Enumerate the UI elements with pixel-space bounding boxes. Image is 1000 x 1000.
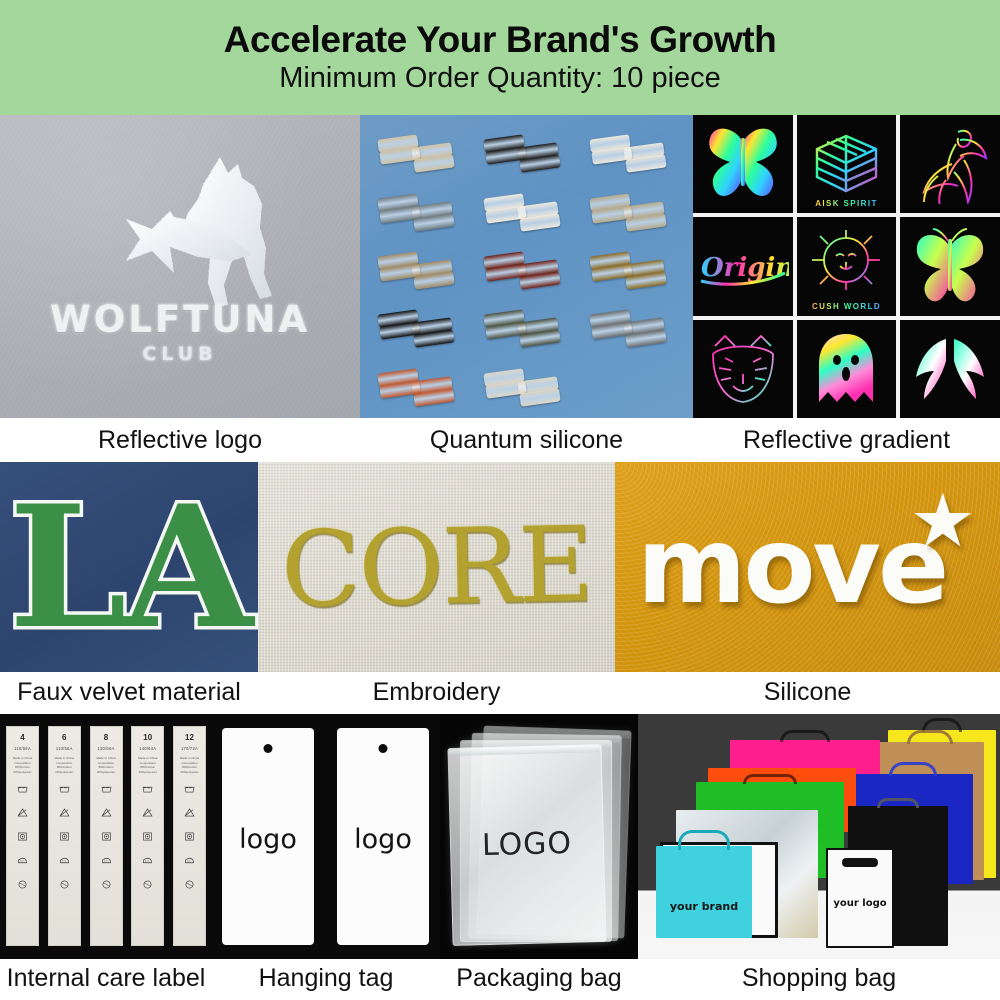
wash-tub-icon: [101, 780, 112, 798]
silicone-patch: [580, 296, 686, 354]
caption-band-row-1: Reflective logo Quantum silicone Reflect…: [0, 418, 1000, 462]
iron-icon: [101, 852, 112, 870]
chevron-icon: [378, 192, 464, 226]
care-symbol-group: [184, 780, 195, 894]
care-label-size-code: 130/60A: [97, 746, 114, 751]
silicone-patch-grid: [368, 121, 686, 413]
chevron-icon: [378, 367, 464, 401]
packaging-logo-text: LOGO: [451, 825, 604, 864]
hang-tag-logo-text: logo: [337, 824, 429, 855]
tile-rubiks-cube: AISK SPIRIT: [797, 115, 897, 213]
caption-faux-velvet: Faux velvet material: [0, 678, 258, 707]
shopping-bag-white-text: your logo: [828, 898, 892, 909]
tile-phoenix: [900, 115, 1000, 213]
care-symbol-group: [142, 780, 153, 894]
do-not-bleach-icon: [59, 804, 70, 822]
caption-band-row-2: Faux velvet material Embroidery Silicone: [0, 672, 1000, 714]
tile-original-script: Original: [693, 217, 793, 315]
caption-internal-care-label: Internal care label: [0, 964, 212, 993]
silicone-patch: [368, 179, 474, 237]
brand-name-primary: WOLFTUNA: [0, 298, 360, 341]
hang-tag-logo-text: logo: [222, 824, 314, 855]
care-label-size: 12: [185, 733, 194, 742]
care-label: 12170/72AMade in Chinacomposition80%Cott…: [173, 726, 206, 946]
care-symbol-group: [59, 780, 70, 894]
chevron-icon: [484, 367, 570, 401]
panel-quantum-silicone[interactable]: [360, 115, 693, 418]
page-title: Accelerate Your Brand's Growth: [224, 20, 777, 60]
care-symbol-group: [17, 780, 28, 894]
silicone-patch: [580, 179, 686, 237]
care-label-size: 6: [62, 733, 66, 742]
do-not-bleach-icon: [17, 804, 28, 822]
panel-reflective-gradient[interactable]: AISK SPIRIT: [693, 115, 1000, 418]
care-label-strip: 4110/56AMade in Chinacomposition80%Cotto…: [6, 726, 206, 946]
dry-clean-icon: [101, 876, 112, 894]
dry-clean-icon: [17, 876, 28, 894]
panel-hanging-tag[interactable]: logo logo: [212, 714, 440, 959]
caption-band-row-3: Internal care label Hanging tag Packagin…: [0, 959, 1000, 1000]
brand-name-secondary: CLUB: [0, 343, 360, 365]
chevron-icon: [590, 250, 676, 284]
silicone-patch: [368, 121, 474, 179]
punch-hole-icon: [379, 744, 388, 753]
silicone-patch: [474, 121, 580, 179]
silicone-patch: [580, 238, 686, 296]
panel-silicone[interactable]: move ★: [615, 462, 1000, 672]
care-symbol-group: [101, 780, 112, 894]
care-label: 4110/56AMade in Chinacomposition80%Cotto…: [6, 726, 39, 946]
hang-tag-1: logo: [222, 728, 314, 945]
do-not-bleach-icon: [101, 804, 112, 822]
iron-icon: [184, 852, 195, 870]
caption-packaging-bag: Packaging bag: [440, 964, 638, 993]
care-label: 10140/64AMade in Chinacomposition80%Cott…: [131, 726, 164, 946]
panel-reflective-logo[interactable]: WOLFTUNA CLUB: [0, 115, 360, 418]
iron-icon: [17, 852, 28, 870]
wash-tub-icon: [59, 780, 70, 798]
caption-embroidery: Embroidery: [258, 678, 615, 707]
care-label-size: 4: [20, 733, 24, 742]
shopping-bag-cyan: your brand: [656, 846, 752, 938]
panel-packaging-bag[interactable]: LOGO: [440, 714, 638, 959]
chevron-icon: [590, 133, 676, 167]
tile-angel-wings: [900, 320, 1000, 418]
tile-label-cush-world: CUSH WORLD: [797, 302, 897, 311]
shopping-bag-white: your logo: [826, 848, 894, 948]
star-icon: ★: [910, 484, 976, 558]
caption-shopping-bag: Shopping bag: [638, 964, 1000, 993]
care-label-body: Made in Chinacomposition80%Cotton20%poly…: [177, 756, 203, 774]
tile-butterfly: [693, 115, 793, 213]
dry-clean-icon: [59, 876, 70, 894]
silicone-patch: [368, 296, 474, 354]
care-label-body: Made in Chinacomposition80%Cotton20%poly…: [10, 756, 36, 774]
caption-reflective-gradient: Reflective gradient: [693, 426, 1000, 455]
minimum-order-quantity-text: Minimum Order Quantity: 10 piece: [279, 62, 721, 95]
panel-faux-velvet[interactable]: LA: [0, 462, 258, 672]
tumble-dry-icon: [59, 828, 70, 846]
caption-silicone: Silicone: [615, 678, 1000, 707]
chevron-icon: [378, 250, 464, 284]
tile-label-aisk-spirit: AISK SPIRIT: [797, 199, 897, 208]
tile-lion-head: CUSH WORLD: [797, 217, 897, 315]
tile-tiger-head: [693, 320, 793, 418]
dry-clean-icon: [184, 876, 195, 894]
iron-icon: [142, 852, 153, 870]
caption-quantum-silicone: Quantum silicone: [360, 426, 693, 455]
silicone-text: move: [637, 514, 946, 619]
caption-hanging-tag: Hanging tag: [212, 964, 440, 993]
embroidered-text: CORE: [258, 462, 615, 672]
chevron-icon: [484, 308, 570, 342]
panel-shopping-bag[interactable]: your brand your logo: [638, 714, 1000, 959]
tumble-dry-icon: [101, 828, 112, 846]
silicone-patch: [368, 238, 474, 296]
do-not-bleach-icon: [142, 804, 153, 822]
do-not-bleach-icon: [184, 804, 195, 822]
iron-icon: [59, 852, 70, 870]
care-label: 6110/56AMade in Chinacomposition80%Cotto…: [48, 726, 81, 946]
chevron-icon: [484, 250, 570, 284]
velvet-letters: LA: [0, 462, 258, 672]
punch-hole-icon: [264, 744, 273, 753]
tumble-dry-icon: [17, 828, 28, 846]
panel-embroidery[interactable]: CORE: [258, 462, 615, 672]
shopping-bag-cyan-text: your brand: [656, 900, 752, 913]
silicone-patch: [474, 179, 580, 237]
silicone-patch: [368, 355, 474, 413]
tumble-dry-icon: [184, 828, 195, 846]
chevron-icon: [484, 192, 570, 226]
product-feature-collage: Accelerate Your Brand's Growth Minimum O…: [0, 0, 1000, 1000]
care-label-size-code: 170/72A: [181, 746, 198, 751]
care-label-size-code: 110/56A: [56, 746, 73, 751]
tile-text-original: Original: [701, 253, 789, 283]
wash-tub-icon: [184, 780, 195, 798]
chevron-icon: [484, 133, 570, 167]
dry-clean-icon: [142, 876, 153, 894]
chevron-icon: [590, 308, 676, 342]
silicone-patch: [580, 121, 686, 179]
care-label-size-code: 110/56A: [14, 746, 31, 751]
panel-internal-care-label[interactable]: 4110/56AMade in Chinacomposition80%Cotto…: [0, 714, 212, 959]
silicone-patch: [474, 296, 580, 354]
tile-butterfly-outline: [900, 217, 1000, 315]
poly-bag-front: LOGO: [447, 744, 606, 946]
care-label-size: 10: [143, 733, 152, 742]
silicone-patch-empty: [580, 355, 686, 413]
care-label-size-code: 140/64A: [139, 746, 156, 751]
tumble-dry-icon: [142, 828, 153, 846]
chevron-icon: [590, 192, 676, 226]
header-banner: Accelerate Your Brand's Growth Minimum O…: [0, 0, 1000, 115]
wash-tub-icon: [142, 780, 153, 798]
wash-tub-icon: [17, 780, 28, 798]
care-label-size: 8: [104, 733, 108, 742]
chevron-icon: [378, 133, 464, 167]
tile-ghost: [797, 320, 897, 418]
care-label: 8130/60AMade in Chinacomposition80%Cotto…: [90, 726, 123, 946]
care-label-body: Made in Chinacomposition80%Cotton20%poly…: [51, 756, 77, 774]
caption-reflective-logo: Reflective logo: [0, 426, 360, 455]
care-label-body: Made in Chinacomposition80%Cotton20%poly…: [135, 756, 161, 774]
care-label-body: Made in Chinacomposition80%Cotton20%poly…: [93, 756, 119, 774]
holographic-tile-grid: AISK SPIRIT: [693, 115, 1000, 418]
hang-tag-2: logo: [337, 728, 429, 945]
silicone-patch: [474, 238, 580, 296]
silicone-patch: [474, 355, 580, 413]
chevron-icon: [378, 308, 464, 342]
